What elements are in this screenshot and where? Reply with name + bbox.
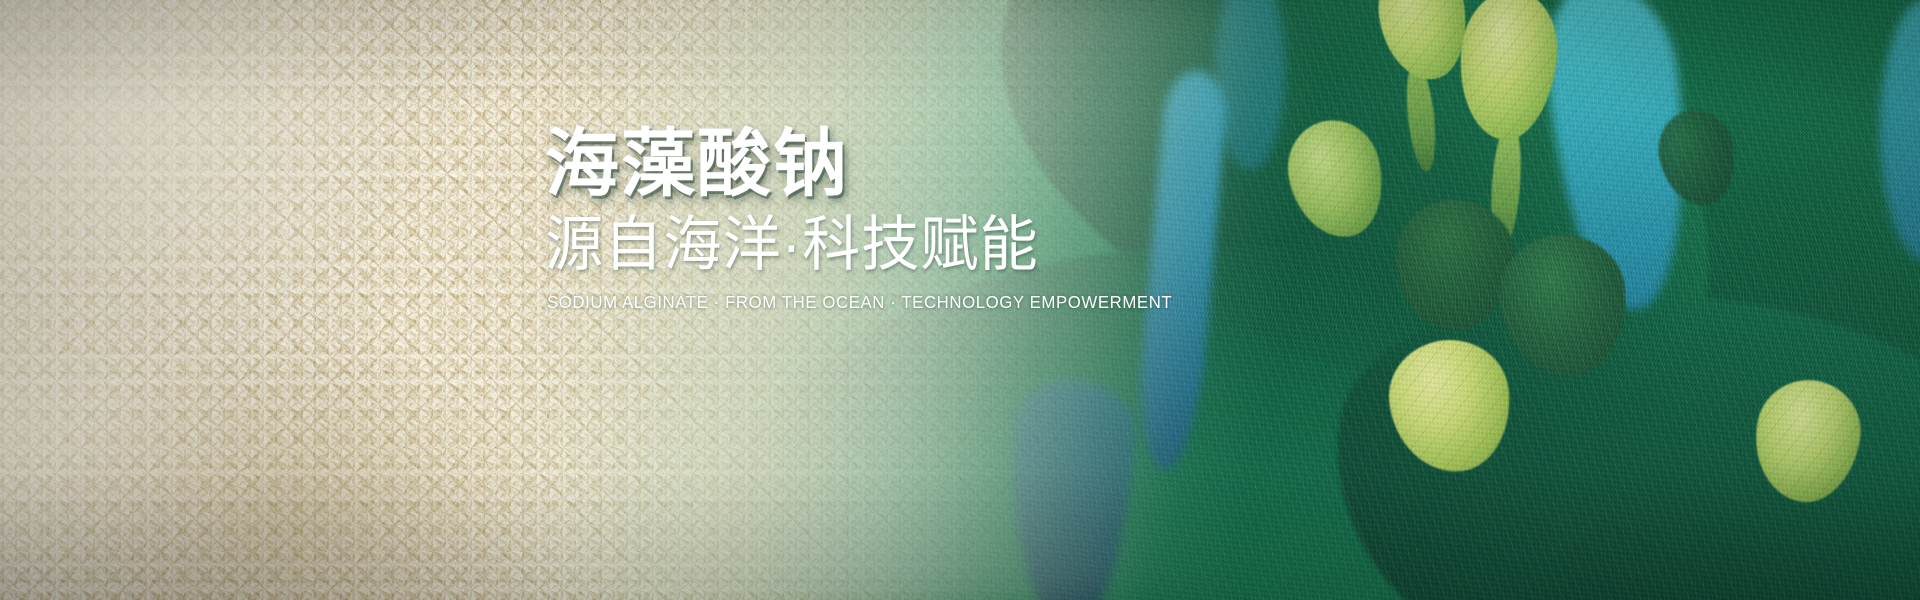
hero-banner: 海藻酸钠 源自海洋·科技赋能 SODIUM ALGINATE · FROM TH… — [0, 0, 1920, 600]
hero-copy-block: 海藻酸钠 源自海洋·科技赋能 SODIUM ALGINATE · FROM TH… — [545, 126, 1205, 313]
hero-subtitle: 源自海洋·科技赋能 — [545, 213, 1185, 276]
hero-tagline-english: SODIUM ALGINATE · FROM THE OCEAN · TECHN… — [547, 292, 1179, 313]
page-title: 海藻酸钠 — [545, 126, 1205, 201]
